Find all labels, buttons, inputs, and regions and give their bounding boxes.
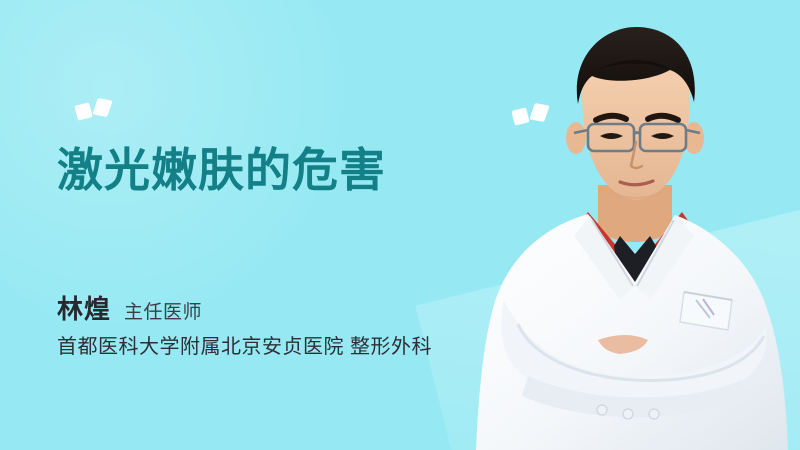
doctor-affiliation: 首都医科大学附属北京安贞医院 整形外科	[57, 330, 432, 359]
doctor-identity: 林煌 主任医师	[57, 289, 202, 326]
video-cover-card: 激光嫩肤的危害 林煌 主任医师 首都医科大学附属北京安贞医院 整形外科	[0, 0, 800, 450]
quote-mark-left-icon	[76, 98, 122, 124]
page-title: 激光嫩肤的危害	[57, 143, 386, 198]
doctor-title: 主任医师	[124, 297, 202, 324]
doctor-portrait	[470, 0, 800, 450]
doctor-portrait-illustration	[470, 0, 800, 450]
doctor-name: 林煌	[57, 289, 111, 326]
